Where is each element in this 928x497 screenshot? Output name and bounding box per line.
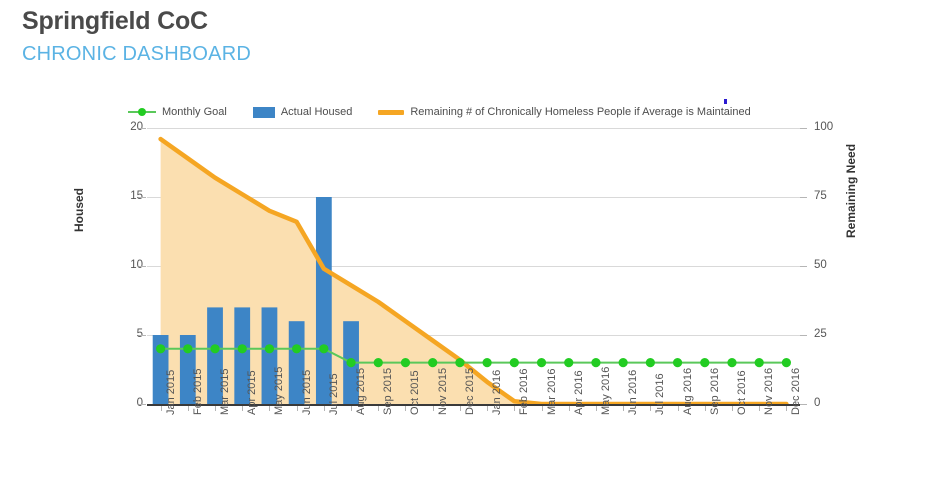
y-axis-left-tick-mark	[139, 197, 146, 198]
monthly-goal-point	[401, 358, 410, 367]
monthly-goal-point	[292, 344, 301, 353]
x-axis-tick-label: Aug 2016	[682, 368, 694, 415]
x-axis-tick-label: Nov 2015	[437, 368, 449, 415]
x-axis-tick-label: Jan 2016	[491, 370, 503, 415]
chronic-dashboard-page: Springfield CoC CHRONIC DASHBOARD Monthl…	[0, 0, 928, 497]
y-axis-left-title: Housed	[72, 188, 86, 232]
y-axis-right-tick-label: 25	[814, 328, 827, 340]
x-axis-tick-mark	[487, 406, 488, 411]
x-axis-tick-mark	[378, 406, 379, 411]
monthly-goal-point	[619, 358, 628, 367]
y-axis-left-tick-label: 15	[107, 190, 143, 202]
remaining-need-area-fill	[161, 139, 787, 404]
y-axis-left-tick-label: 5	[107, 328, 143, 340]
monthly-goal-point	[455, 358, 464, 367]
monthly-goal-point	[156, 344, 165, 353]
monthly-goal-point	[428, 358, 437, 367]
x-axis-tick-label: Apr 2016	[573, 370, 585, 415]
x-axis-tick-label: Oct 2015	[409, 370, 421, 415]
monthly-goal-point	[673, 358, 682, 367]
x-axis-tick-label: Jan 2015	[165, 370, 177, 415]
x-axis-tick-mark	[650, 406, 651, 411]
x-axis-tick-label: Mar 2015	[219, 369, 231, 415]
x-axis-tick-label: May 2015	[273, 367, 285, 415]
x-axis-tick-mark	[514, 406, 515, 411]
x-axis-tick-mark	[732, 406, 733, 411]
monthly-goal-point	[238, 344, 247, 353]
x-axis-tick-mark	[786, 406, 787, 411]
monthly-goal-point	[210, 344, 219, 353]
x-axis-tick-mark	[161, 406, 162, 411]
x-axis-tick-mark	[215, 406, 216, 411]
y-axis-right-tick-mark	[800, 335, 807, 336]
x-axis-tick-label: Sep 2015	[382, 368, 394, 415]
plot-area	[147, 128, 800, 404]
x-axis-tick-mark	[324, 406, 325, 411]
x-axis-tick-label: May 2016	[600, 367, 612, 415]
x-axis-tick-mark	[569, 406, 570, 411]
monthly-goal-point	[537, 358, 546, 367]
x-axis: Jan 2015Feb 2015Mar 2015Apr 2015May 2015…	[147, 406, 800, 496]
y-axis-right-tick-mark	[800, 266, 807, 267]
y-axis-right-tick-label: 100	[814, 121, 833, 133]
y-axis-right-tick-label: 50	[814, 259, 827, 271]
x-axis-tick-mark	[678, 406, 679, 411]
x-axis-tick-label: Nov 2016	[763, 368, 775, 415]
y-axis-left-tick-label: 10	[107, 259, 143, 271]
y-axis-right-tick-mark	[800, 128, 807, 129]
y-axis-right-tick-mark	[800, 197, 807, 198]
y-axis-left-tick-mark	[139, 335, 146, 336]
x-axis-tick-mark	[405, 406, 406, 411]
plot-svg	[147, 128, 800, 404]
monthly-goal-point	[483, 358, 492, 367]
monthly-goal-point	[782, 358, 791, 367]
x-axis-tick-label: Aug 2015	[355, 368, 367, 415]
y-axis-left-tick-mark	[139, 404, 146, 405]
x-axis-tick-label: Feb 2015	[192, 369, 204, 415]
chronic-dashboard-chart: 05101520 Housed 0255075100 Remaining Nee…	[0, 0, 928, 497]
y-axis-left-tick-label: 0	[107, 397, 143, 409]
x-axis-tick-label: Mar 2016	[546, 369, 558, 415]
x-axis-tick-mark	[542, 406, 543, 411]
monthly-goal-point	[374, 358, 383, 367]
x-axis-tick-label: Dec 2016	[790, 368, 802, 415]
x-axis-tick-mark	[269, 406, 270, 411]
y-axis-left-tick-label: 20	[107, 121, 143, 133]
monthly-goal-point	[646, 358, 655, 367]
x-axis-tick-mark	[351, 406, 352, 411]
x-axis-tick-mark	[460, 406, 461, 411]
x-axis-tick-mark	[297, 406, 298, 411]
monthly-goal-point	[700, 358, 709, 367]
monthly-goal-point	[727, 358, 736, 367]
monthly-goal-point	[183, 344, 192, 353]
monthly-goal-point	[319, 344, 328, 353]
monthly-goal-point	[510, 358, 519, 367]
y-axis-left: 05101520	[99, 128, 143, 404]
x-axis-tick-label: Sep 2016	[709, 368, 721, 415]
x-axis-tick-mark	[433, 406, 434, 411]
monthly-goal-point	[346, 358, 355, 367]
y-axis-right-tick-label: 0	[814, 397, 820, 409]
x-axis-tick-mark	[705, 406, 706, 411]
x-axis-tick-mark	[596, 406, 597, 411]
x-axis-tick-mark	[623, 406, 624, 411]
y-axis-right-tick-label: 75	[814, 190, 827, 202]
x-axis-tick-label: Apr 2015	[246, 370, 258, 415]
monthly-goal-point	[265, 344, 274, 353]
y-axis-right-title: Remaining Need	[844, 144, 858, 238]
y-axis-left-tick-mark	[139, 266, 146, 267]
x-axis-tick-mark	[759, 406, 760, 411]
x-axis-tick-label: Jun 2015	[301, 370, 313, 415]
monthly-goal-point	[564, 358, 573, 367]
x-axis-tick-mark	[188, 406, 189, 411]
x-axis-tick-label: Jul 2015	[328, 373, 340, 415]
x-axis-tick-label: Feb 2016	[518, 369, 530, 415]
x-axis-tick-label: Dec 2015	[464, 368, 476, 415]
x-axis-tick-label: Jul 2016	[654, 373, 666, 415]
x-axis-tick-label: Oct 2016	[736, 370, 748, 415]
y-axis-left-tick-mark	[139, 128, 146, 129]
x-axis-tick-mark	[242, 406, 243, 411]
y-axis-right: 0255075100	[800, 128, 850, 404]
x-axis-tick-label: Jun 2016	[627, 370, 639, 415]
monthly-goal-point	[755, 358, 764, 367]
